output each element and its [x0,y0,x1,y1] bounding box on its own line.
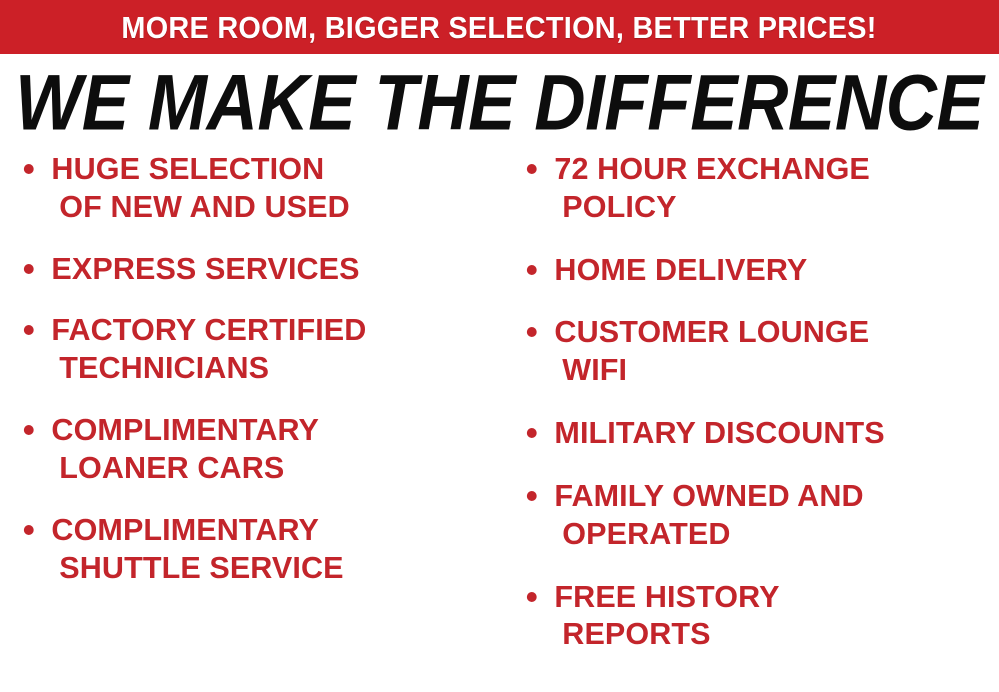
list-item-line: OF NEW AND USED [51,188,491,226]
promo-banner: MORE ROOM, BIGGER SELECTION, BETTER PRIC… [0,0,999,54]
list-item: CUSTOMER LOUNGEWIFI [517,313,990,389]
list-item-label: FACTORY CERTIFIEDTECHNICIANS [51,311,491,387]
list-item: FACTORY CERTIFIEDTECHNICIANS [14,311,492,387]
list-item-line: WIFI [554,351,989,389]
list-item-line: 72 HOUR EXCHANGE [554,150,989,188]
list-item-line: FREE HISTORY [554,578,989,616]
list-item: HUGE SELECTIONOF NEW AND USED [14,150,492,226]
bullet-dot-icon [24,264,34,274]
list-item-line: TECHNICIANS [51,349,491,387]
features-column-left: HUGE SELECTIONOF NEW AND USEDEXPRESS SER… [0,150,505,586]
list-item-line: FAMILY OWNED AND [554,477,989,515]
page-title: WE MAKE THE DIFFERENCE [15,64,983,142]
list-item-line: REPORTS [554,615,989,653]
bullet-dot-icon [24,525,34,535]
list-item-line: LOANER CARS [51,449,491,487]
bullet-dot-icon [527,327,537,337]
list-item-line: HOME DELIVERY [554,251,989,289]
list-item-line: SHUTTLE SERVICE [51,549,491,587]
list-item-label: FREE HISTORYREPORTS [554,578,989,654]
bullet-dot-icon [527,164,537,174]
list-item: COMPLIMENTARYLOANER CARS [14,411,492,487]
list-item-label: 72 HOUR EXCHANGEPOLICY [554,150,989,226]
feature-list-right: 72 HOUR EXCHANGEPOLICYHOME DELIVERYCUSTO… [517,150,997,653]
list-item: HOME DELIVERY [517,251,990,289]
list-item-line: HUGE SELECTION [51,150,491,188]
list-item-label: FAMILY OWNED ANDOPERATED [554,477,989,553]
list-item-label: MILITARY DISCOUNTS [554,414,989,452]
list-item: EXPRESS SERVICES [14,250,492,288]
list-item-line: EXPRESS SERVICES [51,250,491,288]
list-item-label: HUGE SELECTIONOF NEW AND USED [51,150,491,226]
list-item-label: EXPRESS SERVICES [51,250,491,288]
list-item: FAMILY OWNED ANDOPERATED [517,477,990,553]
bullet-dot-icon [527,592,537,602]
bullet-dot-icon [24,325,34,335]
list-item: 72 HOUR EXCHANGEPOLICY [517,150,990,226]
bullet-dot-icon [527,428,537,438]
bullet-dot-icon [24,164,34,174]
list-item-line: CUSTOMER LOUNGE [554,313,989,351]
list-item-line: COMPLIMENTARY [51,511,491,549]
headline-container: WE MAKE THE DIFFERENCE [0,62,999,144]
feature-list-left: HUGE SELECTIONOF NEW AND USEDEXPRESS SER… [14,150,499,586]
list-item: FREE HISTORYREPORTS [517,578,990,654]
bullet-dot-icon [527,265,537,275]
features-column-right: 72 HOUR EXCHANGEPOLICYHOME DELIVERYCUSTO… [505,150,999,653]
features-columns: HUGE SELECTIONOF NEW AND USEDEXPRESS SER… [0,150,999,692]
list-item-line: OPERATED [554,515,989,553]
list-item-label: CUSTOMER LOUNGEWIFI [554,313,989,389]
bullet-dot-icon [527,491,537,501]
list-item-line: COMPLIMENTARY [51,411,491,449]
promo-poster: MORE ROOM, BIGGER SELECTION, BETTER PRIC… [0,0,999,692]
promo-banner-text: MORE ROOM, BIGGER SELECTION, BETTER PRIC… [122,12,877,43]
list-item-label: COMPLIMENTARYLOANER CARS [51,411,491,487]
list-item: MILITARY DISCOUNTS [517,414,990,452]
list-item-line: FACTORY CERTIFIED [51,311,491,349]
list-item: COMPLIMENTARYSHUTTLE SERVICE [14,511,492,587]
bullet-dot-icon [24,425,34,435]
list-item-label: HOME DELIVERY [554,251,989,289]
list-item-line: POLICY [554,188,989,226]
list-item-label: COMPLIMENTARYSHUTTLE SERVICE [51,511,491,587]
list-item-line: MILITARY DISCOUNTS [554,414,989,452]
